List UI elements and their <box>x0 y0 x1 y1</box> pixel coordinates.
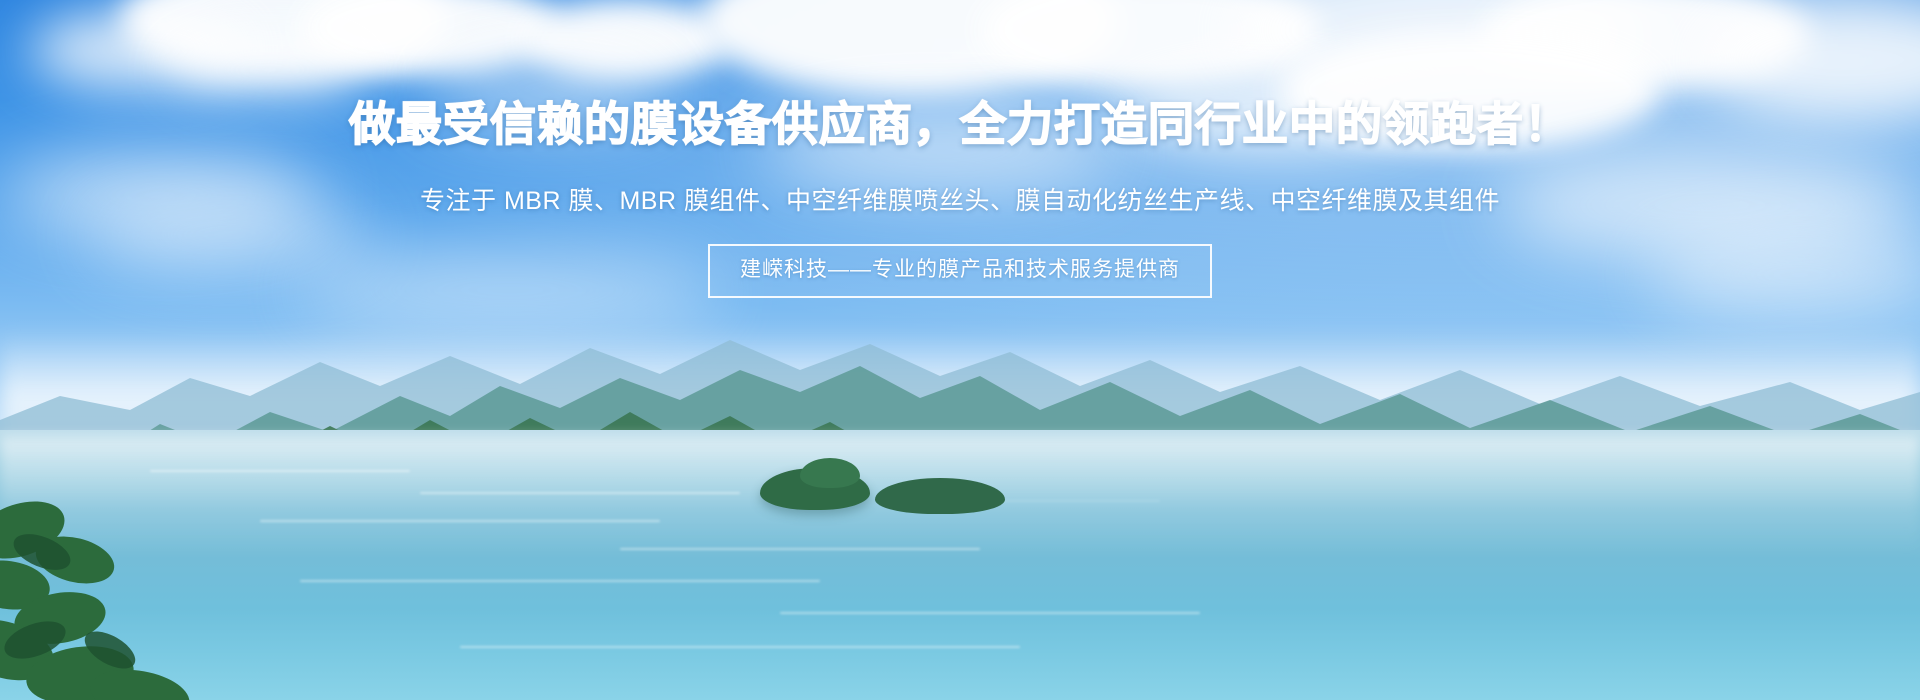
hero-banner: 做最受信赖的膜设备供应商，全力打造同行业中的领跑者！ 专注于 MBR 膜、MBR… <box>0 0 1920 700</box>
foreground-foliage <box>0 490 230 700</box>
water-ripple <box>980 500 1160 502</box>
cloud-shape <box>760 110 1120 190</box>
water-ripple <box>780 612 1200 614</box>
water-ripple <box>260 520 660 522</box>
cloud-shape <box>430 60 670 120</box>
cloud-shape <box>1280 30 1660 150</box>
cloud-shape <box>170 40 370 100</box>
water-ripple <box>420 492 740 494</box>
cloud-shape <box>90 200 370 270</box>
water-ripple <box>150 470 410 472</box>
water-ripple <box>620 548 980 550</box>
lake-island <box>875 478 1005 514</box>
lake-island <box>800 458 860 488</box>
water-ripple <box>300 580 820 582</box>
water-ripple <box>460 646 1020 648</box>
